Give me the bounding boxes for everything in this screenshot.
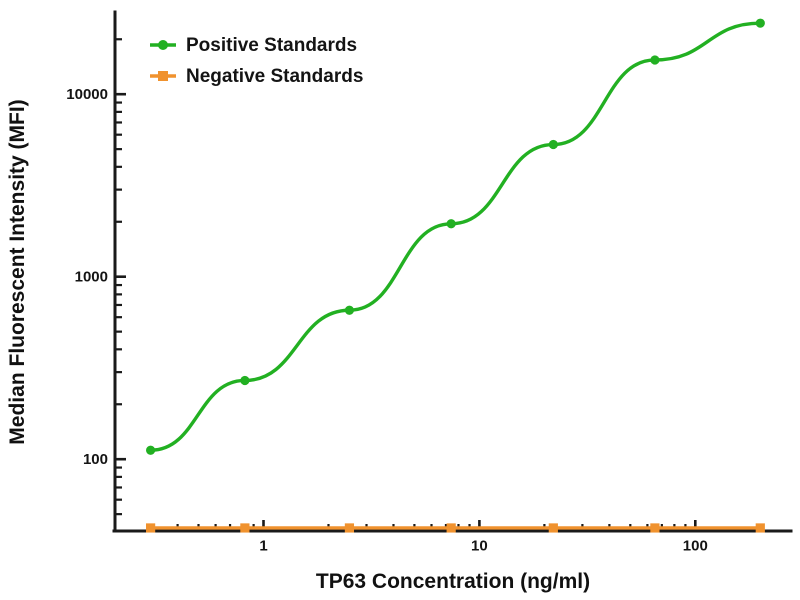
- data-point-marker: [345, 523, 354, 532]
- data-point-marker: [146, 523, 155, 532]
- data-point-marker: [756, 19, 765, 28]
- data-point-marker: [345, 306, 354, 315]
- data-point-marker: [549, 523, 558, 532]
- legend-label: Negative Standards: [186, 66, 363, 87]
- data-point-marker: [650, 55, 659, 64]
- line-chart: 100100010000 110100 TP63 Concentration (…: [0, 0, 800, 600]
- chart-legend: Positive StandardsNegative Standards: [150, 35, 363, 87]
- x-axis-title: TP63 Concentration (ng/ml): [316, 570, 590, 593]
- legend-swatch-marker: [158, 40, 168, 50]
- data-point-marker: [447, 219, 456, 228]
- data-point-marker: [240, 523, 249, 532]
- data-point-marker: [447, 523, 456, 532]
- data-point-marker: [650, 523, 659, 532]
- legend-item: Negative Standards: [150, 66, 363, 87]
- legend-label: Positive Standards: [186, 35, 357, 56]
- x-tick-label: 1: [259, 537, 267, 554]
- y-tick-label: 100: [83, 451, 108, 468]
- data-point-marker: [240, 376, 249, 385]
- y-axis-ticks: [115, 39, 126, 514]
- legend-item: Positive Standards: [150, 35, 357, 56]
- data-series-layer: [146, 19, 765, 533]
- x-tick-label: 10: [471, 537, 488, 554]
- series-line: [151, 23, 761, 450]
- y-tick-label: 10000: [66, 86, 108, 103]
- legend-swatch-marker: [158, 71, 168, 81]
- x-tick-label: 100: [683, 537, 708, 554]
- data-point-marker: [146, 446, 155, 455]
- chart-container: 100100010000 110100 TP63 Concentration (…: [0, 0, 800, 600]
- x-axis-tick-labels: 110100: [259, 537, 707, 554]
- y-axis-title: Median Fluorescent Intensity (MFI): [6, 99, 29, 444]
- data-point-marker: [549, 140, 558, 149]
- y-axis-tick-labels: 100100010000: [66, 86, 108, 468]
- y-tick-label: 1000: [75, 269, 108, 286]
- data-point-marker: [756, 523, 765, 532]
